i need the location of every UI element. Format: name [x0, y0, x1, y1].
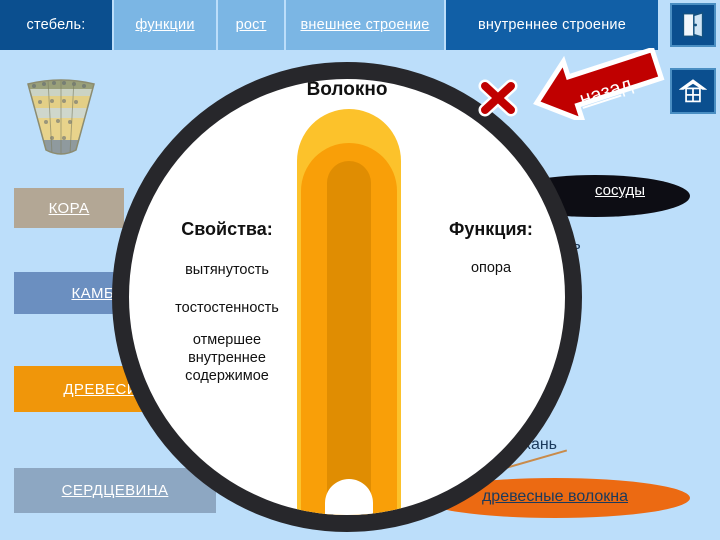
fiber-lumen	[327, 161, 371, 529]
fiber-cell-diagram	[297, 109, 401, 529]
tab-rost-label: рост	[236, 17, 267, 33]
sidebar-item-kora-label: КОРА	[49, 200, 90, 217]
back-button[interactable]: назад	[528, 48, 668, 120]
tab-funktsii[interactable]: функции	[114, 0, 218, 50]
sidebar-item-kora[interactable]: КОРА	[14, 188, 124, 228]
fiber-info-modal-inner: Волокно Свойства: вытянутость тостостенн…	[129, 79, 565, 515]
property-item-1: тостостенность	[147, 299, 307, 317]
exit-button[interactable]	[670, 3, 716, 47]
tab-vneshnee-stroenie-label: внешнее строение	[300, 17, 429, 33]
function-value: опора	[421, 259, 561, 277]
fiber-info-modal: Волокно Свойства: вытянутость тостостенн…	[112, 62, 582, 532]
exit-door-icon	[680, 12, 706, 38]
slide-stage: КОРА КАМБИЙ ДРЕВЕСИНА СЕРДЦЕВИНА сосуды …	[0, 0, 720, 540]
tab-vnutrennee-stroenie-label: внутреннее строение	[478, 17, 626, 33]
tab-vnutrennee-stroenie[interactable]: внутреннее строение	[446, 0, 658, 50]
home-icon	[679, 78, 707, 104]
stem-cross-section-micrograph	[18, 72, 104, 160]
property-item-0: вытянутость	[157, 261, 297, 279]
tab-vneshnee-stroenie[interactable]: внешнее строение	[286, 0, 446, 50]
nav-home-text: стебель:	[27, 17, 86, 33]
function-heading: Функция:	[421, 219, 561, 240]
tab-funktsii-label: функции	[135, 17, 194, 33]
close-icon[interactable]	[478, 78, 518, 118]
top-navigation: стебель: функции рост внешнее строение в…	[0, 0, 720, 50]
vessels-callout-label[interactable]: сосуды	[560, 182, 680, 199]
tab-rost[interactable]: рост	[218, 0, 286, 50]
fiber-base-notch	[325, 479, 373, 532]
property-item-2: отмершее внутреннее содержимое	[157, 331, 297, 385]
properties-heading: Свойства:	[157, 219, 297, 240]
home-button[interactable]	[670, 68, 716, 114]
nav-home-label: стебель:	[0, 0, 114, 50]
